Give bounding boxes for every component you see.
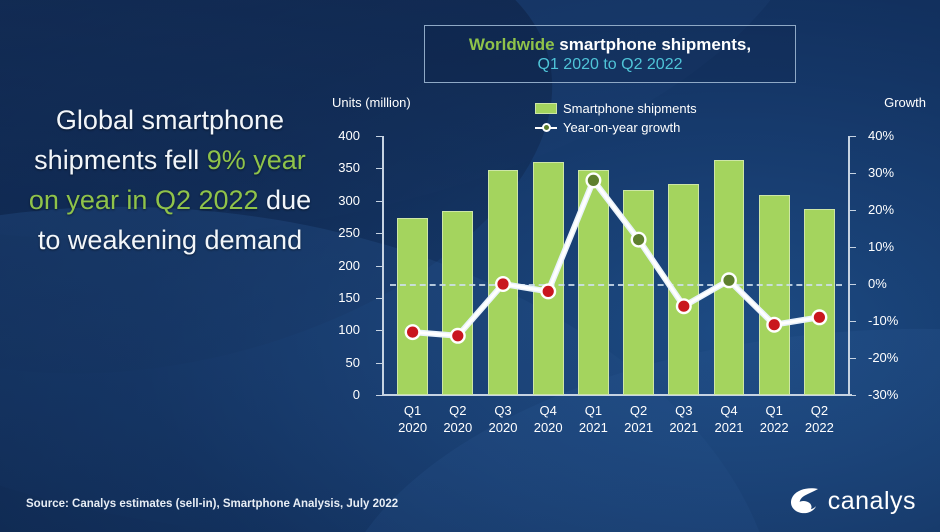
growth-marker-dot: Q3 2020: 0% — [497, 278, 508, 289]
y-axis-left-tick-label: 0 — [316, 387, 360, 402]
y-axis-left-line — [382, 136, 384, 395]
x-axis-label-quarter: Q3 — [661, 402, 706, 419]
x-axis-label: Q22020 — [435, 402, 480, 436]
y-axis-left-tick-label: 50 — [316, 355, 360, 370]
x-axis-label-quarter: Q1 — [571, 402, 616, 419]
x-axis-label-year: 2022 — [752, 419, 797, 436]
y-axis-left-tick — [376, 266, 382, 267]
x-axis-label-year: 2021 — [706, 419, 751, 436]
x-axis-label-quarter: Q2 — [616, 402, 661, 419]
x-axis-label-quarter: Q3 — [480, 402, 525, 419]
growth-line-halo — [413, 180, 820, 335]
chart-title-worldwide: Worldwide — [469, 35, 555, 54]
y-axis-left-title: Units (million) — [332, 95, 411, 110]
y-axis-right-tick — [850, 247, 856, 248]
y-axis-right-tick — [850, 358, 856, 359]
y-axis-right-tick-label: -10% — [868, 313, 922, 328]
growth-marker-dot: Q1 2021: 28% — [588, 175, 599, 186]
y-axis-right-tick — [850, 210, 856, 211]
growth-marker-dot: Q1 2020: -13% — [407, 327, 418, 338]
x-axis-label-quarter: Q1 — [752, 402, 797, 419]
chart-title-line2: Q1 2020 to Q2 2022 — [538, 55, 683, 75]
x-axis-label: Q22021 — [616, 402, 661, 436]
chart-title-subject: smartphone shipments, — [559, 35, 751, 54]
x-axis-label-year: 2022 — [797, 419, 842, 436]
y-axis-left-tick-label: 200 — [316, 258, 360, 273]
chart-title-line1: Worldwide smartphone shipments, — [469, 34, 751, 55]
y-axis-right-tick — [850, 321, 856, 322]
x-axis-label: Q32020 — [480, 402, 525, 436]
y-axis-left-tick — [376, 201, 382, 202]
legend-item-bars: Smartphone shipments — [535, 99, 697, 118]
y-axis-left-tick-label: 350 — [316, 160, 360, 175]
y-axis-right-tick-label: 40% — [868, 128, 922, 143]
page-headline: Global smartphone shipments fell 9% year… — [20, 100, 320, 260]
canalys-swirl-icon — [787, 486, 821, 516]
chart-area: Units (million) Growth Smartphone shipme… — [330, 95, 930, 455]
x-axis-label-year: 2020 — [390, 419, 435, 436]
growth-marker-dot: Q2 2021: 12% — [633, 234, 644, 245]
y-axis-right-line — [848, 136, 850, 395]
slide-canvas: Worldwide smartphone shipments, Q1 2020 … — [0, 0, 940, 532]
source-note: Source: Canalys estimates (sell-in), Sma… — [26, 498, 398, 510]
growth-marker-dot: Q3 2021: -6% — [678, 301, 689, 312]
y-axis-left-tick — [376, 233, 382, 234]
x-axis-label: Q12020 — [390, 402, 435, 436]
y-axis-right-tick-label: 0% — [868, 276, 922, 291]
x-axis-label-year: 2021 — [661, 419, 706, 436]
y-axis-right-tick — [850, 136, 856, 137]
x-axis-label-quarter: Q1 — [390, 402, 435, 419]
y-axis-left-tick — [376, 298, 382, 299]
x-axis-label-year: 2020 — [435, 419, 480, 436]
y-axis-left-tick-label: 150 — [316, 290, 360, 305]
legend-bars-label: Smartphone shipments — [563, 101, 697, 116]
legend-bar-swatch-icon — [535, 103, 557, 114]
y-axis-left-tick-label: 300 — [316, 193, 360, 208]
y-axis-right-tick — [850, 395, 856, 396]
y-axis-left-tick — [376, 395, 382, 396]
y-axis-left-tick-label: 250 — [316, 225, 360, 240]
x-axis-label: Q42020 — [526, 402, 571, 436]
legend-line-swatch-icon — [535, 122, 557, 133]
x-axis-label: Q32021 — [661, 402, 706, 436]
legend-item-line: Year-on-year growth — [535, 118, 697, 137]
y-axis-right-tick-label: -30% — [868, 387, 922, 402]
x-axis-label: Q42021 — [706, 402, 751, 436]
y-axis-right-tick-label: -20% — [868, 350, 922, 365]
plot-area: 400350300250200150100500 40%30%20%10%0%-… — [390, 136, 842, 395]
x-axis-label-quarter: Q2 — [435, 402, 480, 419]
y-axis-left-tick-label: 100 — [316, 322, 360, 337]
chart-title-box: Worldwide smartphone shipments, Q1 2020 … — [424, 25, 796, 83]
growth-marker-dot: Q4 2021: 1% — [723, 275, 734, 286]
growth-marker-dot: Q4 2020: -2% — [543, 286, 554, 297]
x-axis-label-quarter: Q2 — [797, 402, 842, 419]
x-axis-label-year: 2021 — [571, 419, 616, 436]
x-axis-label-quarter: Q4 — [526, 402, 571, 419]
y-axis-left-tick-label: 400 — [316, 128, 360, 143]
legend-marker-dot-icon — [542, 123, 551, 132]
x-axis-label-year: 2021 — [616, 419, 661, 436]
y-axis-left-tick — [376, 136, 382, 137]
x-axis-label: Q22022 — [797, 402, 842, 436]
growth-marker-dot: Q2 2022: -9% — [814, 312, 825, 323]
x-axis-label-year: 2020 — [480, 419, 525, 436]
y-axis-right-tick — [850, 284, 856, 285]
y-axis-left-tick — [376, 330, 382, 331]
chart-legend: Smartphone shipments Year-on-year growth — [535, 99, 697, 137]
x-axis-label: Q12022 — [752, 402, 797, 436]
legend-line-label: Year-on-year growth — [563, 120, 680, 135]
y-axis-right-tick-label: 20% — [868, 202, 922, 217]
y-axis-right-title: Growth — [884, 95, 926, 110]
growth-marker-dot: Q2 2020: -14% — [452, 330, 463, 341]
y-axis-left-tick — [376, 363, 382, 364]
growth-marker-dot: Q1 2022: -11% — [769, 319, 780, 330]
canalys-logo-text: canalys — [828, 487, 916, 516]
x-axis-label-year: 2020 — [526, 419, 571, 436]
x-axis-label: Q12021 — [571, 402, 616, 436]
x-axis-label-quarter: Q4 — [706, 402, 751, 419]
y-axis-right-tick — [850, 173, 856, 174]
canalys-logo: canalys — [787, 486, 916, 516]
y-axis-right-tick-label: 30% — [868, 165, 922, 180]
growth-line-series: Q1 2020: -13%Q2 2020: -14%Q3 2020: 0%Q4 … — [390, 136, 842, 395]
y-axis-left-tick — [376, 168, 382, 169]
y-axis-right-tick-label: 10% — [868, 239, 922, 254]
